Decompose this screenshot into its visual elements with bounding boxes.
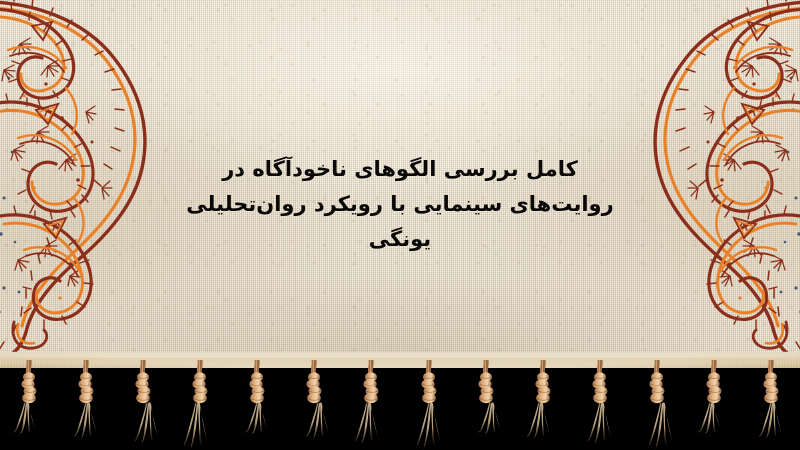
tassel [751, 360, 791, 450]
tassel [9, 360, 49, 450]
tassel [294, 360, 334, 450]
tassel [66, 360, 106, 450]
tassel [637, 360, 677, 450]
slide-canvas: کامل بررسی الگوهای ناخودآگاه در روایت‌ها… [0, 0, 800, 450]
tassel [409, 360, 449, 450]
tassel-fringe [0, 360, 800, 450]
tassel [580, 360, 620, 450]
title-line-3: یونگی [150, 222, 650, 257]
tassel [123, 360, 163, 450]
title-line-2: روایت‌های سینمایی با رویکرد روان‌تحلیلی [150, 187, 650, 222]
tassel [466, 360, 506, 450]
slide-title: کامل بررسی الگوهای ناخودآگاه در روایت‌ها… [150, 152, 650, 257]
title-line-1: کامل بررسی الگوهای ناخودآگاه در [150, 152, 650, 187]
tassel [351, 360, 391, 450]
tassel [694, 360, 734, 450]
tassel [523, 360, 563, 450]
tassel [180, 360, 220, 450]
tassel [237, 360, 277, 450]
